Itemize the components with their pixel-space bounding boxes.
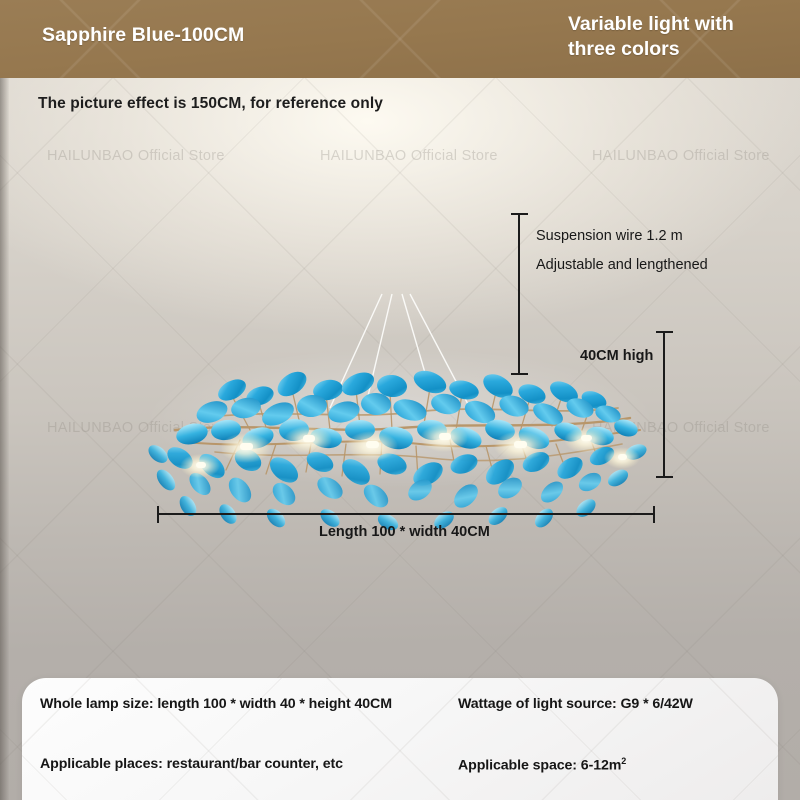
dimension-cap-bottom — [656, 476, 673, 478]
specification-panel: Whole lamp size: length 100 * width 40 *… — [22, 678, 778, 800]
dimension-cap-top — [656, 331, 673, 333]
dimension-cap-left — [157, 506, 159, 523]
product-photo-area: The picture effect is 150CM, for referen… — [0, 78, 800, 800]
height-dimension-line — [663, 331, 665, 478]
header-banner: Sapphire Blue-100CM Variable light with … — [0, 0, 800, 78]
superscript: 2 — [621, 756, 626, 766]
header-product-title: Sapphire Blue-100CM — [42, 24, 244, 47]
height-label: 40CM high — [580, 348, 653, 364]
dimension-cap-right — [653, 506, 655, 523]
spec-item-applicable-places: Applicable places: restaurant/bar counte… — [40, 756, 343, 772]
header-feature-line-1: Variable light with — [568, 12, 798, 37]
spec-item-whole-lamp-size: Whole lamp size: length 100 * width 40 *… — [40, 696, 392, 712]
suspension-wire-label-line-2: Adjustable and lengthened — [536, 257, 708, 273]
length-dimension-line — [157, 513, 655, 515]
spec-item-applicable-space: Applicable space: 6-12m2 — [458, 756, 626, 774]
dimension-cap-top — [511, 213, 528, 215]
suspension-dimension-line — [518, 213, 520, 375]
header-feature-title: Variable light with three colors — [568, 12, 798, 63]
header-feature-line-2: three colors — [568, 37, 798, 62]
suspension-wire-label-line-1: Suspension wire 1.2 m — [536, 228, 683, 244]
dimension-cap-bottom — [511, 373, 528, 375]
length-label: Length 100 * width 40CM — [319, 524, 490, 540]
spec-item-wattage: Wattage of light source: G9 * 6/42W — [458, 696, 693, 712]
